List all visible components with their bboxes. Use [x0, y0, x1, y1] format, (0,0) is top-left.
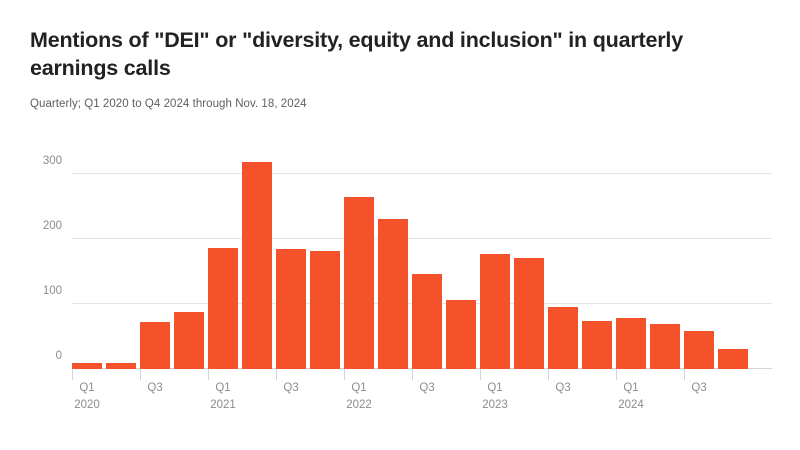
x-axis-quarter-label: Q1: [487, 382, 502, 394]
x-axis-tick: [480, 369, 481, 380]
x-axis-year-label: 2022: [346, 399, 372, 411]
bar[interactable]: [276, 249, 306, 369]
x-axis-quarter-label: Q3: [419, 382, 434, 394]
x-axis-tick: [344, 369, 345, 380]
x-axis-year-label: 2020: [74, 399, 100, 411]
x-axis-quarter-label: Q1: [351, 382, 366, 394]
x-axis-tick: [548, 369, 549, 380]
bar[interactable]: [582, 321, 612, 369]
bar[interactable]: [412, 274, 442, 369]
chart-page: Mentions of "DEI" or "diversity, equity …: [0, 0, 800, 450]
bar[interactable]: [684, 331, 714, 369]
x-axis-year-label: 2021: [210, 399, 236, 411]
x-axis-quarter-label: Q1: [79, 382, 94, 394]
x-axis-quarter-label: Q1: [623, 382, 638, 394]
bar[interactable]: [174, 312, 204, 369]
y-axis-tick-label: 200: [2, 220, 70, 232]
bar[interactable]: [480, 254, 510, 369]
bar[interactable]: [310, 251, 340, 369]
bar[interactable]: [514, 258, 544, 369]
x-axis-year-label: 2024: [618, 399, 644, 411]
x-axis-quarter-label: Q3: [147, 382, 162, 394]
bar[interactable]: [446, 300, 476, 369]
x-axis-quarter-label: Q3: [283, 382, 298, 394]
bar[interactable]: [378, 219, 408, 369]
y-axis-tick-label: 300: [2, 155, 70, 167]
x-axis-tick: [208, 369, 209, 380]
x-axis-year-label: 2023: [482, 399, 508, 411]
bar[interactable]: [344, 197, 374, 369]
bar[interactable]: [140, 322, 170, 369]
chart-subtitle: Quarterly; Q1 2020 to Q4 2024 through No…: [30, 98, 770, 110]
y-axis-tick-label: 100: [2, 285, 70, 297]
x-axis-quarter-label: Q3: [691, 382, 706, 394]
x-axis-tick: [684, 369, 685, 380]
y-axis-tick-label: 0: [2, 350, 70, 362]
bar[interactable]: [718, 349, 748, 369]
bar[interactable]: [548, 307, 578, 369]
x-axis-tick: [140, 369, 141, 380]
chart-header: Mentions of "DEI" or "diversity, equity …: [30, 26, 770, 110]
bar[interactable]: [616, 318, 646, 369]
x-axis-tick: [616, 369, 617, 380]
bar[interactable]: [650, 324, 680, 369]
x-axis-quarter-label: Q3: [555, 382, 570, 394]
bar[interactable]: [242, 162, 272, 370]
bar-series: [72, 155, 772, 369]
x-axis-tick: [72, 369, 73, 380]
bar[interactable]: [208, 248, 238, 369]
x-axis-tick: [412, 369, 413, 380]
x-axis-quarter-label: Q1: [215, 382, 230, 394]
chart-plot-area: 0100200300 Q12020Q3Q12021Q3Q12022Q3Q1202…: [0, 140, 800, 440]
x-axis: Q12020Q3Q12021Q3Q12022Q3Q12023Q3Q12024Q3: [72, 369, 772, 439]
page-title: Mentions of "DEI" or "diversity, equity …: [30, 26, 770, 83]
plot-canvas: 0100200300: [72, 155, 772, 369]
x-axis-tick: [276, 369, 277, 380]
